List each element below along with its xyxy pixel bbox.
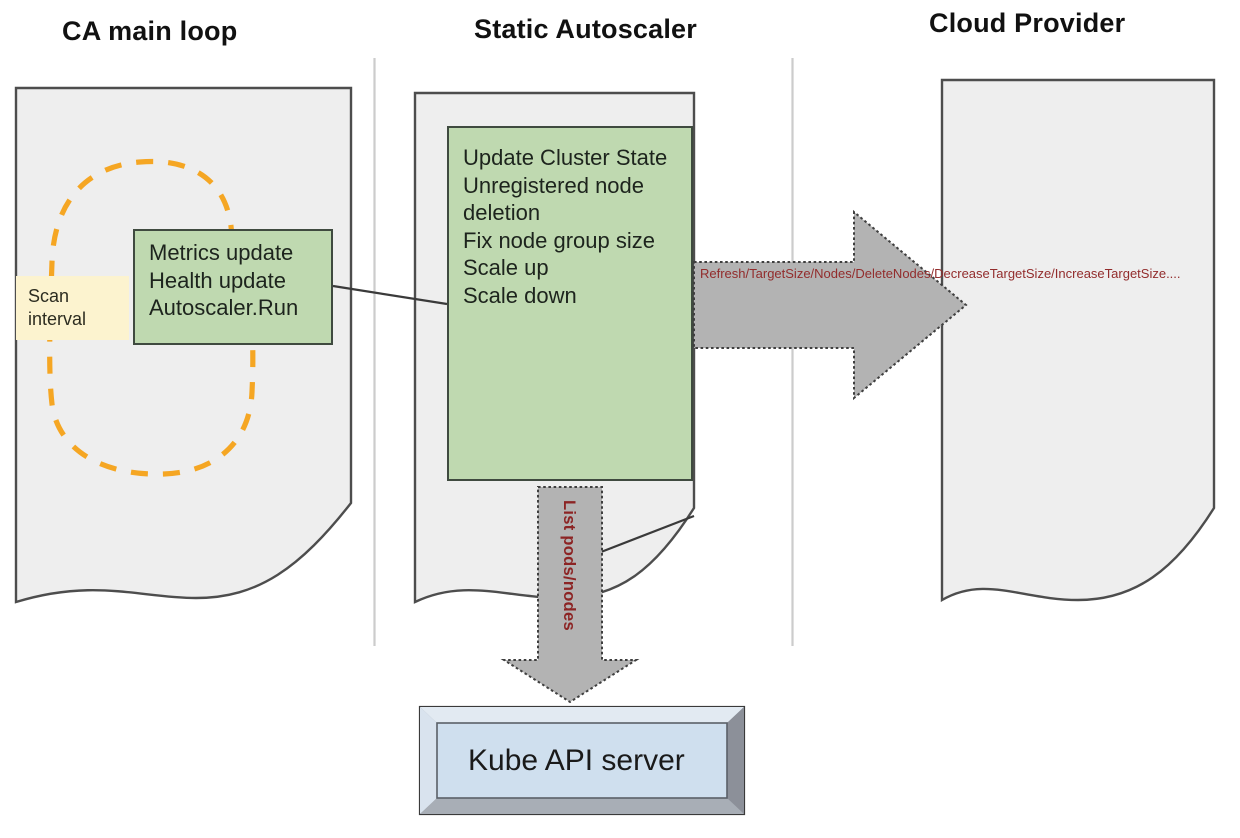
panel-cloud-provider [942, 80, 1214, 600]
kube-bevel-top [420, 707, 744, 723]
ca-loop-steps-label: Metrics update Health update Autoscaler.… [135, 231, 331, 322]
static-autoscaler-steps-label: Update Cluster State Unregistered node d… [449, 128, 691, 309]
cloud-provider-calls-label: Refresh/TargetSize/Nodes/DeleteNodes/Dec… [700, 266, 896, 282]
scan-interval-note: Scan interval [16, 276, 129, 340]
right-block-arrow-icon [694, 212, 966, 398]
diagram-canvas: CA main loop Static Autoscaler Cloud Pro… [0, 0, 1240, 838]
scan-interval-note-label: Scan interval [16, 276, 129, 331]
ca-loop-steps-box: Metrics update Health update Autoscaler.… [133, 229, 333, 345]
kube-bevel-left [420, 707, 437, 814]
static-autoscaler-steps-box: Update Cluster State Unregistered node d… [447, 126, 693, 481]
kube-api-server-label: Kube API server [468, 744, 685, 778]
column-title-cloud-provider: Cloud Provider [929, 8, 1125, 39]
column-title-ca-main-loop: CA main loop [62, 16, 237, 47]
kube-bevel-bottom [420, 798, 744, 814]
api-server-calls-label: List pods/nodes [559, 500, 578, 631]
column-title-static-autoscaler: Static Autoscaler [474, 14, 697, 45]
kube-bevel-right [727, 707, 744, 814]
